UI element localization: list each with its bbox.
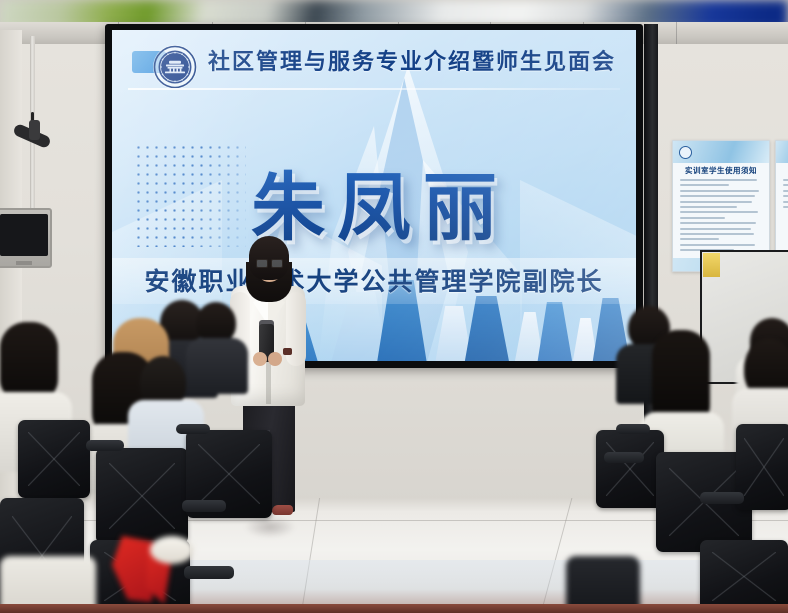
yellow-sticker: [703, 253, 720, 277]
lecture-chair[interactable]: [96, 448, 188, 544]
slide-header-title: 社区管理与服务专业介绍暨师生见面会: [208, 44, 616, 76]
presenter-hand-left: [253, 352, 267, 366]
speaker-name-title: 朱凤丽: [112, 148, 636, 255]
white-hat: [150, 536, 194, 564]
presenter-shadow: [244, 516, 296, 538]
classroom-scene: 实训室学生使用须知: [0, 0, 788, 613]
speaker-affiliation: 安徽职业技术大学公共管理学院副院长: [112, 262, 636, 298]
poster-body-text: [680, 179, 762, 255]
university-emblem: [152, 44, 198, 90]
header-divider: [128, 88, 620, 90]
monitor-screen: [0, 214, 48, 256]
foreground-desk-edge: [0, 604, 788, 613]
presenter-hair: [249, 236, 289, 280]
lecture-chair[interactable]: [596, 430, 664, 508]
wristwatch-icon: [283, 348, 292, 355]
monitor-mount: [16, 261, 32, 265]
presenter-hand-right: [268, 352, 282, 366]
lecture-chair[interactable]: [18, 420, 90, 498]
poster-body-text: [783, 179, 788, 255]
wall-monitor[interactable]: [0, 208, 52, 268]
chair-tablet-arm[interactable]: [700, 492, 744, 504]
chair-tablet-arm[interactable]: [176, 424, 210, 434]
chair-tablet-arm[interactable]: [86, 440, 124, 451]
poster-title: 实训室学生使用须知: [673, 165, 769, 176]
presenter-shoe-right: [272, 505, 293, 515]
poster-header-band: [776, 141, 788, 163]
poster-seal-icon: [679, 146, 692, 159]
chair-tablet-arm[interactable]: [604, 452, 644, 463]
chair-tablet-arm[interactable]: [182, 500, 226, 512]
chair-tablet-arm[interactable]: [184, 566, 234, 579]
chair-tablet-arm[interactable]: [616, 424, 650, 434]
camera-body: [29, 120, 40, 140]
lecture-chair[interactable]: [700, 540, 788, 613]
glasses-icon: [256, 259, 283, 266]
